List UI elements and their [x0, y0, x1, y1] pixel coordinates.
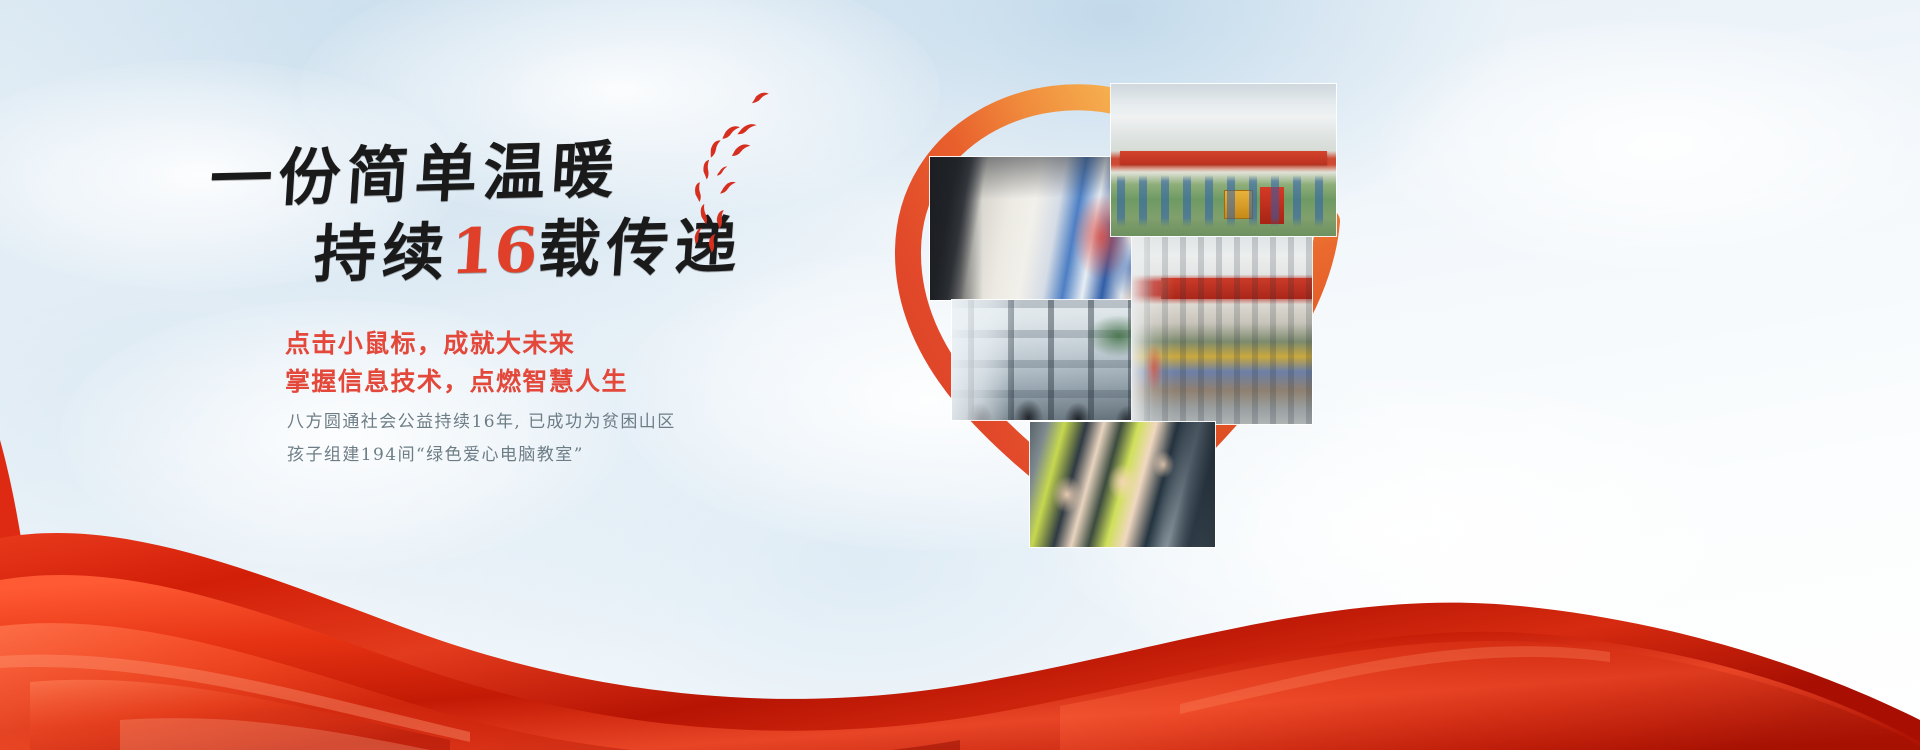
- photo-collage: [830, 45, 1530, 565]
- headline-line-2-suffix: 载传递: [536, 209, 746, 286]
- headline-year-count: 16: [448, 214, 541, 289]
- body-text-group: 八方圆通社会公益持续16年, 已成功为贫困山区 孩子组建194间“绿色爱心电脑教…: [287, 406, 676, 471]
- charity-banner: 一份简单温暖 持续16载传递 点击小鼠标，成就大未来 掌握信息技术，点燃智慧人生…: [0, 0, 1920, 750]
- headline-line-2-prefix: 持续: [312, 215, 453, 291]
- text-block: 一份简单温暖 持续16载传递 点击小鼠标，成就大未来 掌握信息技术，点燃智慧人生…: [0, 0, 860, 620]
- subtitle-line-1: 点击小鼠标，成就大未来: [285, 325, 628, 363]
- headline-line-1: 一份简单温暖: [208, 132, 853, 211]
- photo-indoor-donation-group: [1132, 237, 1312, 424]
- photo-school-yard-group: [1111, 84, 1336, 236]
- headline-line-2: 持续16载传递: [312, 212, 853, 286]
- subtitle-group: 点击小鼠标，成就大未来 掌握信息技术，点燃智慧人生: [285, 325, 628, 401]
- subtitle-line-2: 掌握信息技术，点燃智慧人生: [285, 363, 628, 401]
- body-line-1: 八方圆通社会公益持续16年, 已成功为贫困山区: [287, 406, 676, 439]
- body-line-2: 孩子组建194间“绿色爱心电脑教室”: [287, 439, 676, 472]
- photo-kids-at-monitors: [1030, 422, 1215, 547]
- headline: 一份简单温暖 持续16载传递: [210, 148, 850, 286]
